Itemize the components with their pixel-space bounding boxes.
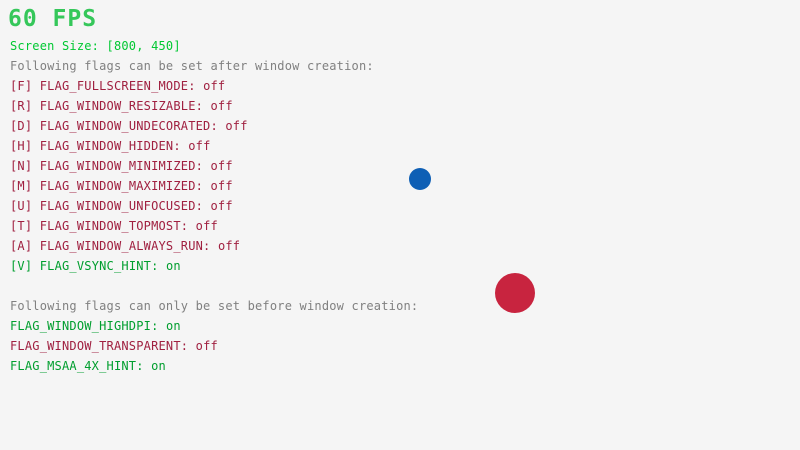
flag-key: [N] bbox=[10, 159, 32, 173]
flag-row[interactable]: FLAG_MSAA_4X_HINT: on bbox=[10, 356, 610, 376]
flag-key: [T] bbox=[10, 219, 32, 233]
blue-ball bbox=[409, 168, 431, 190]
flag-value: off bbox=[211, 179, 233, 193]
flag-value: off bbox=[211, 199, 233, 213]
flag-sections: Following flags can be set after window … bbox=[10, 56, 610, 376]
flag-row[interactable]: [T] FLAG_WINDOW_TOPMOST: off bbox=[10, 216, 610, 236]
flag-row[interactable]: [N] FLAG_WINDOW_MINIMIZED: off bbox=[10, 156, 610, 176]
section-heading: Following flags can be set after window … bbox=[10, 56, 610, 76]
info-panel: Screen Size: [800, 450] Following flags … bbox=[10, 36, 610, 376]
flag-name: FLAG_WINDOW_TOPMOST: bbox=[40, 219, 189, 233]
flag-value: off bbox=[196, 339, 218, 353]
flag-value: off bbox=[218, 239, 240, 253]
fps-counter: 60 FPS bbox=[8, 6, 97, 32]
flag-row[interactable]: [F] FLAG_FULLSCREEN_MODE: off bbox=[10, 76, 610, 96]
flag-name: FLAG_WINDOW_UNFOCUSED: bbox=[40, 199, 203, 213]
app-window: 60 FPS Screen Size: [800, 450] Following… bbox=[0, 0, 800, 450]
flag-row[interactable]: FLAG_WINDOW_HIGHDPI: on bbox=[10, 316, 610, 336]
flag-key: [A] bbox=[10, 239, 32, 253]
flag-row[interactable]: [M] FLAG_WINDOW_MAXIMIZED: off bbox=[10, 176, 610, 196]
flag-row[interactable]: FLAG_WINDOW_TRANSPARENT: off bbox=[10, 336, 610, 356]
flag-value: off bbox=[188, 139, 210, 153]
flag-name: FLAG_WINDOW_UNDECORATED: bbox=[40, 119, 218, 133]
flag-value: off bbox=[211, 99, 233, 113]
flag-name: FLAG_WINDOW_HIGHDPI: bbox=[10, 319, 159, 333]
flag-row[interactable]: [A] FLAG_WINDOW_ALWAYS_RUN: off bbox=[10, 236, 610, 256]
flag-name: FLAG_WINDOW_RESIZABLE: bbox=[40, 99, 203, 113]
flag-key: [U] bbox=[10, 199, 32, 213]
flag-value: on bbox=[151, 359, 166, 373]
flag-key: [V] bbox=[10, 259, 32, 273]
flag-name: FLAG_WINDOW_MAXIMIZED: bbox=[40, 179, 203, 193]
flag-value: off bbox=[211, 159, 233, 173]
flag-name: FLAG_MSAA_4X_HINT: bbox=[10, 359, 144, 373]
flag-key: [R] bbox=[10, 99, 32, 113]
flag-name: FLAG_VSYNC_HINT: bbox=[40, 259, 159, 273]
flag-row[interactable]: [R] FLAG_WINDOW_RESIZABLE: off bbox=[10, 96, 610, 116]
red-ball bbox=[495, 273, 535, 313]
flag-name: FLAG_WINDOW_MINIMIZED: bbox=[40, 159, 203, 173]
flag-key: [H] bbox=[10, 139, 32, 153]
flag-key: [F] bbox=[10, 79, 32, 93]
flag-row[interactable]: [H] FLAG_WINDOW_HIDDEN: off bbox=[10, 136, 610, 156]
flag-name: FLAG_WINDOW_ALWAYS_RUN: bbox=[40, 239, 211, 253]
flag-name: FLAG_FULLSCREEN_MODE: bbox=[40, 79, 196, 93]
flag-value: off bbox=[225, 119, 247, 133]
flag-value: on bbox=[166, 259, 181, 273]
flag-row[interactable]: [U] FLAG_WINDOW_UNFOCUSED: off bbox=[10, 196, 610, 216]
flag-value: off bbox=[203, 79, 225, 93]
flag-name: FLAG_WINDOW_HIDDEN: bbox=[40, 139, 181, 153]
flag-row[interactable]: [D] FLAG_WINDOW_UNDECORATED: off bbox=[10, 116, 610, 136]
flag-key: [D] bbox=[10, 119, 32, 133]
flag-name: FLAG_WINDOW_TRANSPARENT: bbox=[10, 339, 188, 353]
flag-key: [M] bbox=[10, 179, 32, 193]
screen-size-label: Screen Size: [800, 450] bbox=[10, 36, 610, 56]
flag-value: off bbox=[196, 219, 218, 233]
flag-value: on bbox=[166, 319, 181, 333]
